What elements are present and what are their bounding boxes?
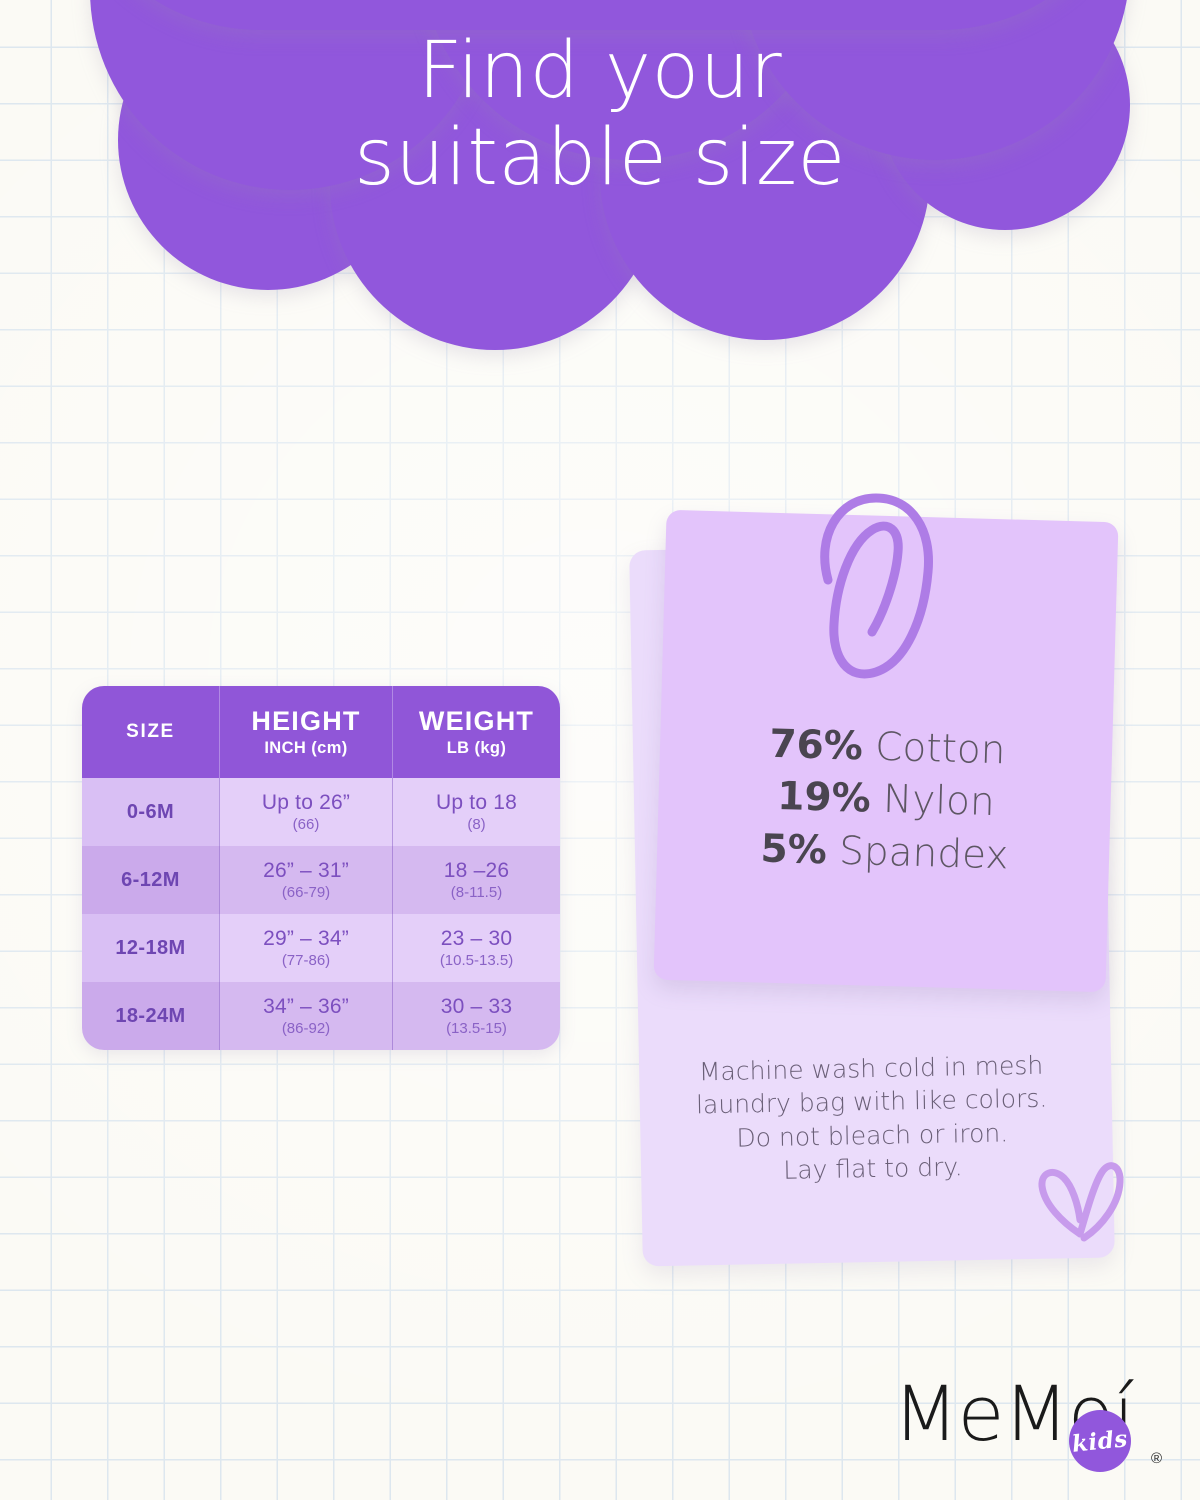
table-row: 12-18M 29” – 34” (77-86) 23 – 30 (10.5-1… [82, 914, 560, 982]
cell-height: 34” – 36” (86-92) [219, 982, 392, 1050]
cell-size: 0-6M [82, 778, 219, 846]
kids-badge-label: kids [1071, 1425, 1129, 1458]
cell-weight: Up to 18 (8) [392, 778, 560, 846]
cell-size: 12-18M [82, 914, 219, 982]
size-chart-table: SIZE HEIGHT INCH (cm) WEIGHT LB (kg) 0-6… [82, 686, 560, 1050]
cell-weight: 18 –26 (8-11.5) [392, 846, 560, 914]
table-row: 0-6M Up to 26” (66) Up to 18 (8) [82, 778, 560, 846]
column-header-height: HEIGHT INCH (cm) [219, 686, 392, 778]
composition-percent: 19% [777, 774, 872, 822]
composition-material: Cotton [875, 725, 1006, 774]
column-header-weight: WEIGHT LB (kg) [392, 686, 560, 778]
cell-size: 6-12M [82, 846, 219, 914]
page-title: Find your suitable size [0, 28, 1200, 203]
cloud-header-banner: Find your suitable size [0, 0, 1200, 390]
composition-material: Nylon [882, 777, 995, 825]
cell-weight: 30 – 33 (13.5-15) [392, 982, 560, 1050]
column-header-size: SIZE [82, 686, 219, 778]
cell-size: 18-24M [82, 982, 219, 1050]
cell-height: Up to 26” (66) [219, 778, 392, 846]
cell-height: 29” – 34” (77-86) [219, 914, 392, 982]
composition-percent: 5% [760, 826, 827, 873]
kids-badge: kids [1069, 1410, 1131, 1472]
cell-weight: 23 – 30 (10.5-13.5) [392, 914, 560, 982]
heart-doodle-icon [1028, 1150, 1136, 1260]
fabric-composition-list: 76% Cotton 19% Nylon 5% Spandex [674, 716, 1098, 884]
paperclip-icon [788, 482, 958, 697]
brand-logo: MeMoí kids ® [893, 1376, 1173, 1488]
title-line-1: Find your [0, 28, 1200, 115]
registered-trademark-mark: ® [1151, 1450, 1162, 1467]
cell-height: 26” – 31” (66-79) [219, 846, 392, 914]
care-instructions: Machine wash cold in mesh laundry bag wi… [659, 1048, 1085, 1189]
table-row: 6-12M 26” – 31” (66-79) 18 –26 (8-11.5) [82, 846, 560, 914]
composition-percent: 76% [769, 722, 864, 770]
table-header-row: SIZE HEIGHT INCH (cm) WEIGHT LB (kg) [82, 686, 560, 778]
title-line-2: suitable size [0, 115, 1200, 202]
table-row: 18-24M 34” – 36” (86-92) 30 – 33 (13.5-1… [82, 982, 560, 1050]
composition-material: Spandex [839, 828, 1009, 878]
